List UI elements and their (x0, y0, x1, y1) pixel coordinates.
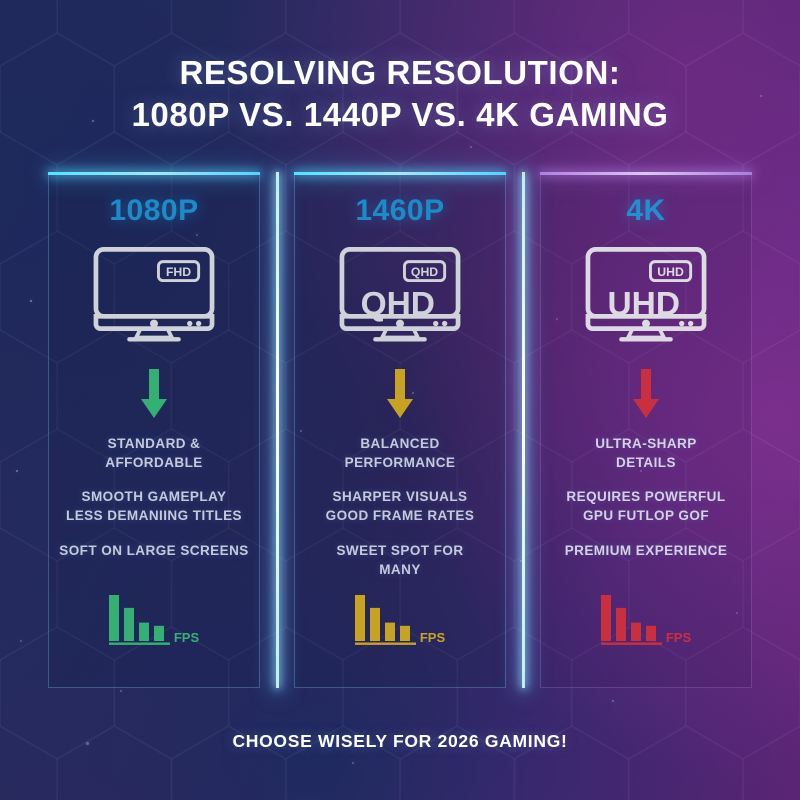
title-line-2: 1080P VS. 1440P VS. 4K GAMING (0, 94, 800, 136)
column-card-1080p[interactable]: 1080PFHDSTANDARD &AFFORDABLESMOOTH GAMEP… (48, 172, 260, 688)
column-card-1460p[interactable]: 1460PQHDQHDBALANCEDPERFORMANCESHARPER VI… (294, 172, 506, 688)
column-divider (260, 172, 294, 688)
title-line-1: RESOLVING RESOLUTION: (179, 54, 620, 91)
card-top-rail (48, 172, 260, 175)
column-divider (506, 172, 540, 688)
comparison-columns: 1080PFHDSTANDARD &AFFORDABLESMOOTH GAMEP… (48, 172, 752, 688)
card-frame (48, 172, 260, 688)
card-top-rail (540, 172, 752, 175)
infographic-page: RESOLVING RESOLUTION: 1080P VS. 1440P VS… (0, 0, 800, 800)
card-frame (540, 172, 752, 688)
page-title: RESOLVING RESOLUTION: 1080P VS. 1440P VS… (0, 52, 800, 135)
card-frame (294, 172, 506, 688)
card-top-rail (294, 172, 506, 175)
footer-cta: CHOOSE WISELY FOR 2026 GAMING! (0, 731, 800, 752)
column-card-4k[interactable]: 4KUHDUHDULTRA-SHARPDETAILSREQUIRES POWER… (540, 172, 752, 688)
